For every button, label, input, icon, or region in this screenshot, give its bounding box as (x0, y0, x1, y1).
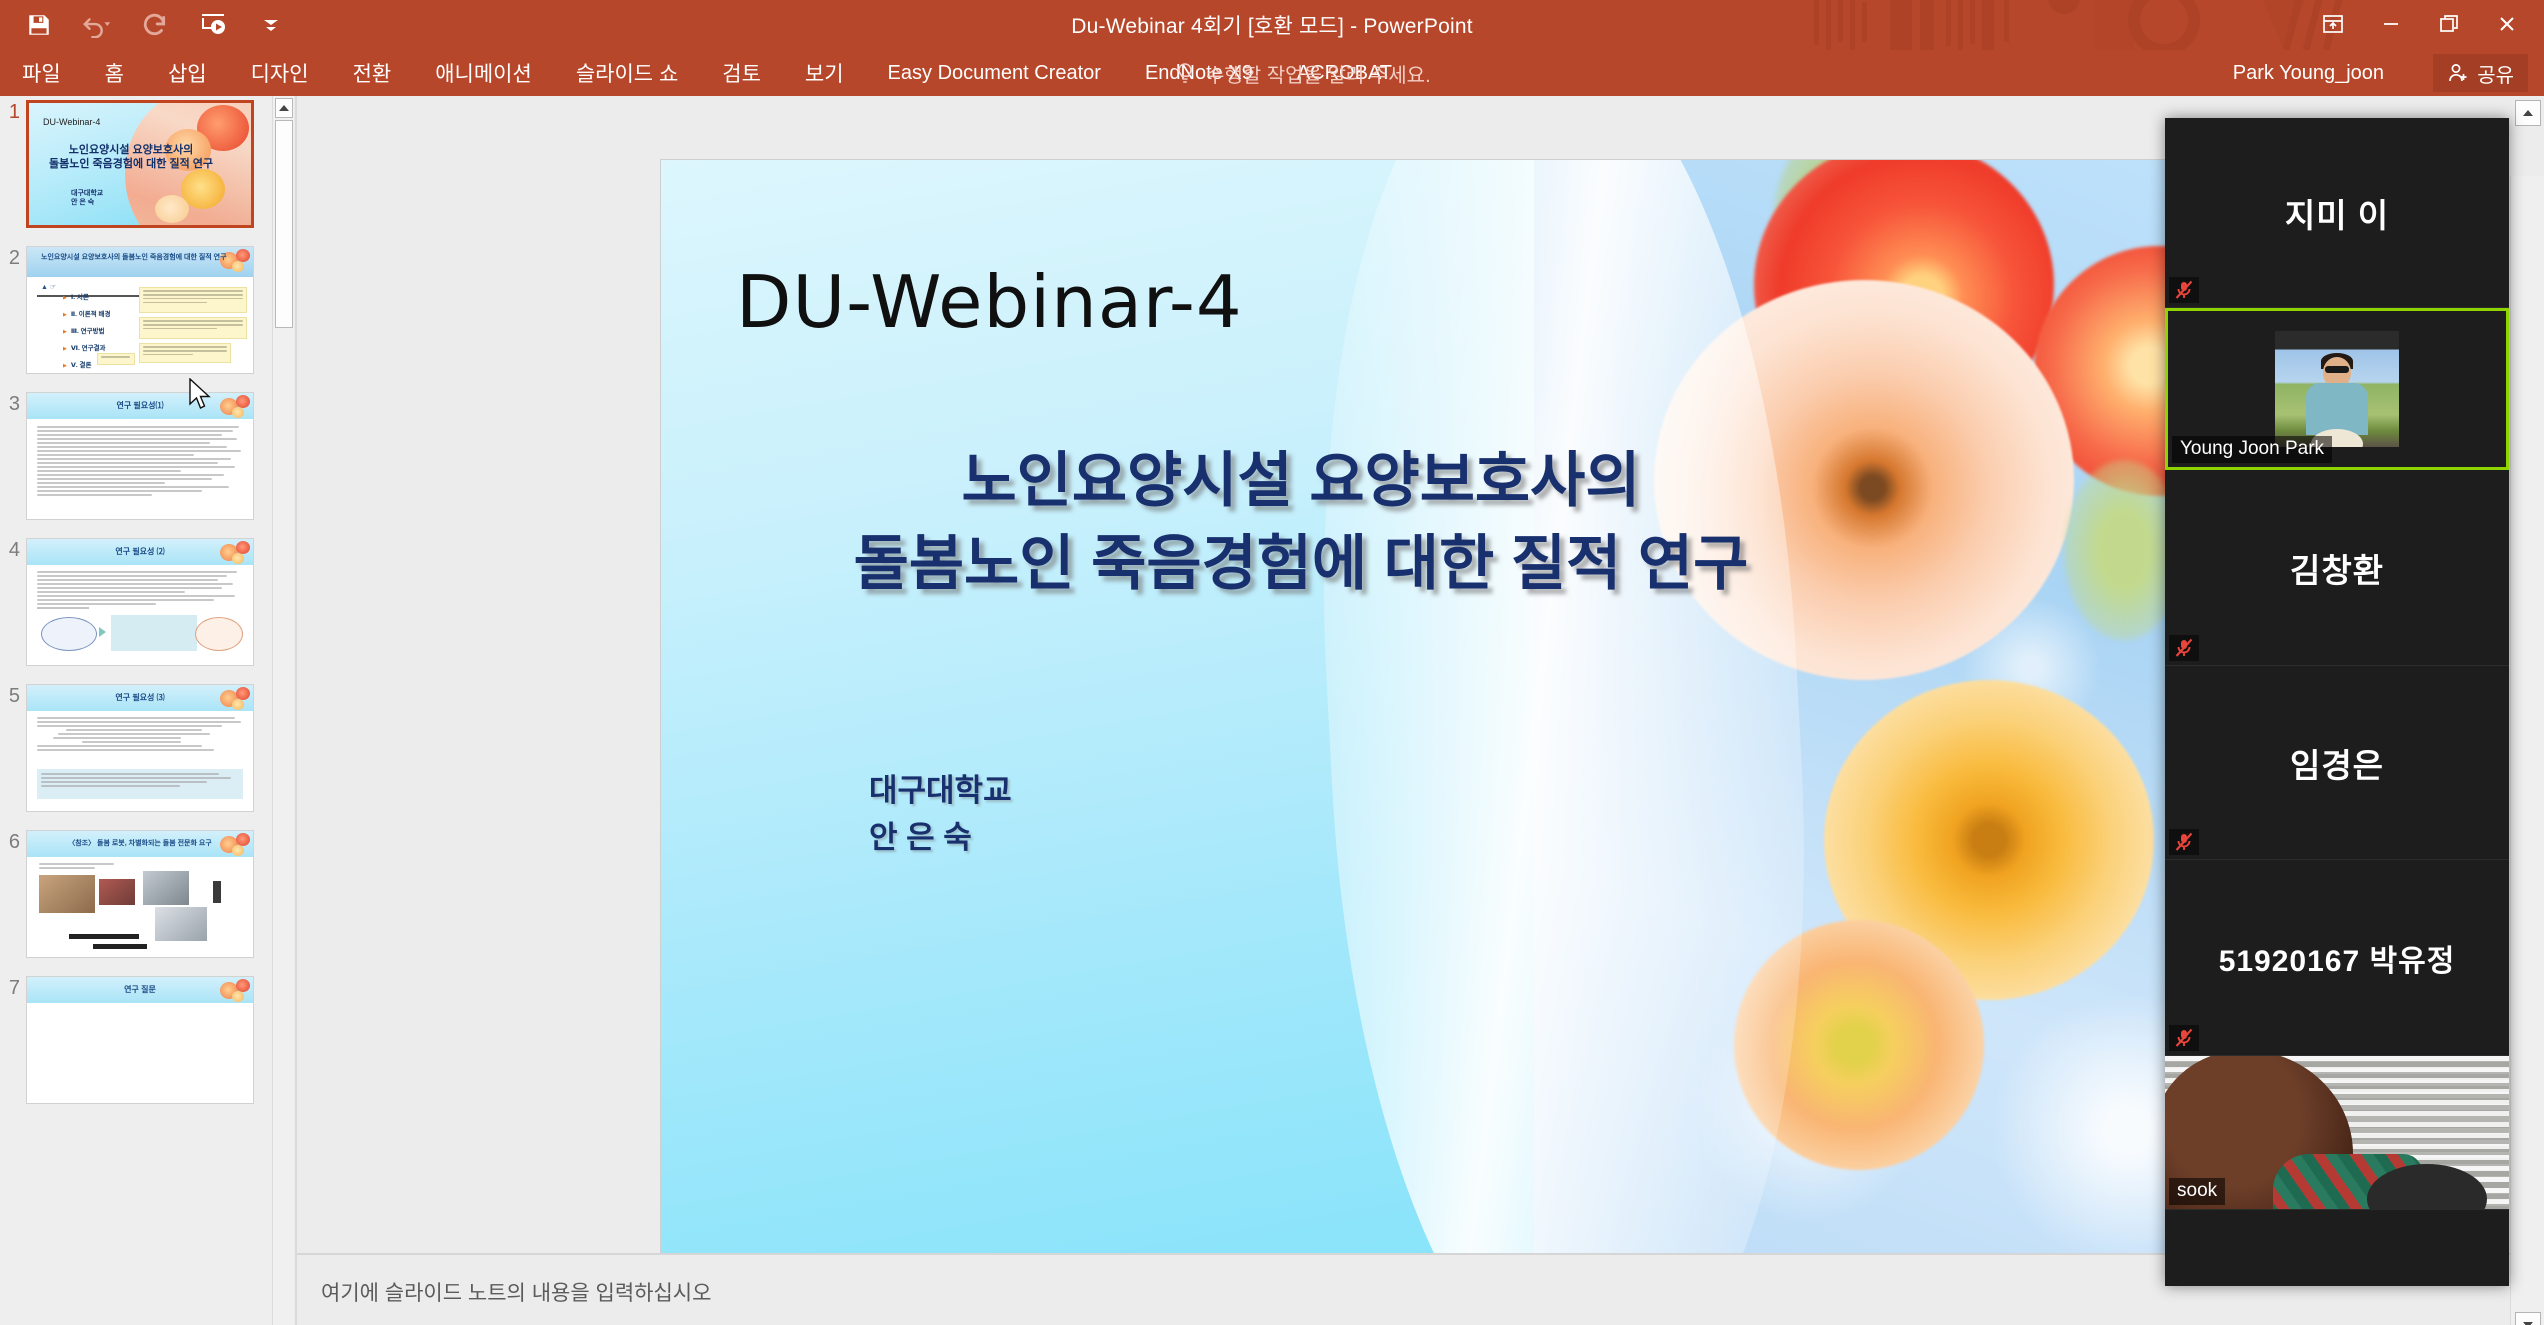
mini-affiliation: 대구대학교 안 은 숙 (71, 189, 103, 208)
mini-content-slide: 〈참조〉 돌봄 로봇, 차별화되는 돌봄 전문화 요구 (27, 831, 253, 957)
thumbnail-number: 4 (0, 538, 26, 560)
thumbnail-slide-3[interactable]: 3 연구 필요성⑴ (0, 392, 272, 520)
thumbnail-slide-5[interactable]: 5 연구 필요성 ⑶ (0, 684, 272, 812)
mini-content-slide: 연구 필요성⑴ (27, 393, 253, 519)
minimize-icon[interactable] (2362, 2, 2420, 46)
thumbnail-preview: 연구 필요성 ⑶ (26, 684, 254, 812)
workspace: 1 DU-Webinar-4 노인요양시설 요양보호사의 돌봄노인 죽음경험에 … (0, 96, 2544, 1325)
thumbnail-preview: 노인요양시설 요양보호사의 돌봄노인 죽음경험에 대한 질적 연구 ▲ ☞ Ⅰ.… (26, 246, 254, 374)
zoom-participant-tile[interactable]: 지미 이 (2165, 118, 2509, 308)
ribbon-tab-bar: 파일 홈 삽입 디자인 전환 애니메이션 슬라이드 쇼 검토 보기 Easy D… (0, 50, 2544, 96)
mic-muted-icon (2169, 277, 2199, 303)
thumbnail-preview: 연구 질문 (26, 976, 254, 1104)
tab-animations[interactable]: 애니메이션 (413, 50, 554, 96)
share-button[interactable]: 공유 (2433, 54, 2528, 92)
thumbnail-number: 2 (0, 246, 26, 268)
mini-slide-title: 연구 필요성 ⑶ (27, 692, 253, 703)
mini-photo (39, 875, 95, 913)
mini-note-block (139, 343, 231, 363)
mini-body-lines (37, 426, 243, 498)
mini-toc-item: Ⅱ. 이론적 배경 (63, 308, 110, 318)
mini-toc-item: Ⅵ. 연구결과 (63, 342, 110, 352)
mic-muted-icon (2169, 829, 2199, 855)
thumbnail-slide-1[interactable]: 1 DU-Webinar-4 노인요양시설 요양보호사의 돌봄노인 죽음경험에 … (0, 100, 272, 228)
mini-blossom-icon (155, 195, 189, 223)
zoom-participant-tile-active[interactable]: Young Joon Park (2165, 308, 2509, 470)
participant-name: 임경은 (2290, 739, 2384, 787)
mini-body-lines (37, 571, 243, 607)
account-name[interactable]: Park Young_joon (2233, 50, 2384, 96)
lightbulb-icon (1175, 62, 1195, 84)
window-controls (2304, 0, 2536, 48)
mini-photo (143, 871, 189, 905)
mini-content-slide: 연구 필요성 ⑶ (27, 685, 253, 811)
mini-note-block (139, 317, 247, 339)
share-label: 공유 (2477, 59, 2514, 88)
mini-english-title: DU-Webinar-4 (43, 117, 100, 127)
zoom-participant-panel[interactable]: 지미 이 Young Joon Park 김창환 (2165, 118, 2509, 1286)
mini-diagram-box (111, 615, 197, 651)
tell-me-search[interactable]: 수행할 작업을 알려 주세요. (1175, 50, 1431, 96)
mouse-cursor-icon (188, 378, 214, 412)
mini-title-slide: DU-Webinar-4 노인요양시설 요양보호사의 돌봄노인 죽음경험에 대한… (29, 103, 251, 225)
scroll-up-button[interactable] (2515, 100, 2541, 126)
mini-photo (213, 881, 221, 903)
window-title: Du-Webinar 4회기 [호환 모드] - PowerPoint (0, 0, 2544, 50)
slide-area-scrollbar[interactable] (2510, 176, 2544, 1325)
thumbnail-preview: DU-Webinar-4 노인요양시설 요양보호사의 돌봄노인 죽음경험에 대한… (26, 100, 254, 228)
scroll-down-button[interactable] (2515, 1312, 2541, 1325)
tab-home[interactable]: 홈 (83, 50, 146, 96)
mini-callout-box (37, 769, 243, 799)
mini-slide-title: 연구 필요성 ⑵ (27, 546, 253, 557)
mini-toc-item: Ⅲ. 연구방법 (63, 325, 110, 335)
notes-placeholder: 여기에 슬라이드 노트의 내용을 입력하십시오 (321, 1282, 711, 1305)
restore-icon[interactable] (2420, 2, 2478, 46)
zoom-participant-tile[interactable]: 51920167 박유정 (2165, 860, 2509, 1056)
close-icon[interactable] (2478, 2, 2536, 46)
mini-slide-title: 〈참조〉 돌봄 로봇, 차별화되는 돌봄 전문화 요구 (27, 838, 253, 848)
scrollbar-thumb[interactable] (275, 120, 293, 328)
mini-content-slide: 연구 질문 (27, 977, 253, 1103)
scroll-up-icon[interactable] (275, 98, 293, 118)
current-slide[interactable]: DU-Webinar-4 노인요양시설 요양보호사의 돌봄노인 죽음경험에 대한… (660, 159, 2225, 1264)
mini-diagram-oval (41, 617, 97, 651)
mini-slide-title: 연구 질문 (27, 984, 253, 995)
tell-me-text: 수행할 작업을 알려 주세요. (1206, 59, 1431, 88)
tab-insert[interactable]: 삽입 (146, 50, 229, 96)
thumbnail-number: 5 (0, 684, 26, 706)
mini-korean-title: 노인요양시설 요양보호사의 돌봄노인 죽음경험에 대한 질적 연구 (41, 143, 221, 172)
thumbnail-number: 7 (0, 976, 26, 998)
thumbnail-preview: 연구 필요성⑴ (26, 392, 254, 520)
mic-muted-icon (2169, 1025, 2199, 1051)
mini-note-block (97, 353, 135, 365)
title-bar: Du-Webinar 4회기 [호환 모드] - PowerPoint (0, 0, 2544, 50)
mini-toc-item: Ⅰ. 서론 (63, 291, 110, 301)
zoom-participant-tile-video[interactable]: sook (2165, 1056, 2509, 1210)
tab-easy-document-creator[interactable]: Easy Document Creator (866, 50, 1123, 96)
thumbnail-slide-7[interactable]: 7 연구 질문 (0, 976, 272, 1104)
mini-body-lines (37, 717, 243, 753)
slide-main-title[interactable]: 노인요양시설 요양보호사의 돌봄노인 죽음경험에 대한 질적 연구 (701, 440, 1901, 606)
mini-content-slide: 연구 필요성 ⑵ (27, 539, 253, 665)
person-add-icon (2447, 62, 2469, 84)
mini-diagram-oval (195, 617, 243, 651)
mini-body-lines (39, 863, 133, 871)
slide-affiliation[interactable]: 대구대학교 안 은 숙 (869, 768, 1012, 861)
tab-review[interactable]: 검토 (700, 50, 783, 96)
tab-slideshow[interactable]: 슬라이드 쇼 (554, 50, 700, 96)
thumbnail-preview: 〈참조〉 돌봄 로봇, 차별화되는 돌봄 전문화 요구 (26, 830, 254, 958)
mini-arrow-icon (99, 627, 106, 637)
thumbnail-number: 3 (0, 392, 26, 414)
participant-name: 지미 이 (2285, 189, 2389, 237)
tab-file[interactable]: 파일 (0, 50, 83, 96)
zoom-participant-tile[interactable]: 임경은 (2165, 666, 2509, 860)
tab-transitions[interactable]: 전환 (331, 50, 414, 96)
participant-name: 51920167 박유정 (2219, 936, 2456, 980)
participant-name: sook (2169, 1178, 2225, 1205)
mini-content-slide: 노인요양시설 요양보호사의 돌봄노인 죽음경험에 대한 질적 연구 ▲ ☞ Ⅰ.… (27, 247, 253, 373)
thumbnail-number: 6 (0, 830, 26, 852)
tab-view[interactable]: 보기 (783, 50, 866, 96)
mini-slide-title: 연구 필요성⑴ (27, 400, 253, 411)
powerpoint-window: Du-Webinar 4회기 [호환 모드] - PowerPoint (0, 0, 2544, 1325)
thumbnail-scrollbar[interactable] (272, 96, 294, 1325)
thumbnail-slide-6[interactable]: 6 〈참조〉 돌봄 로봇, 차별화되는 돌봄 전문화 요구 (0, 830, 272, 958)
participant-name: 김창환 (2290, 544, 2384, 592)
slide-english-title[interactable]: DU-Webinar-4 (736, 260, 1243, 344)
tab-design[interactable]: 디자인 (229, 50, 331, 96)
mini-photo (155, 907, 207, 941)
participant-name: Young Joon Park (2172, 436, 2332, 463)
mini-note-block (139, 287, 247, 313)
ribbon-display-options-icon[interactable] (2304, 2, 2362, 46)
zoom-participant-tile[interactable]: 김창환 (2165, 470, 2509, 666)
mini-photo (99, 879, 135, 905)
mic-muted-icon (2169, 635, 2199, 661)
slide-thumbnail-pane[interactable]: 1 DU-Webinar-4 노인요양시설 요양보호사의 돌봄노인 죽음경험에 … (0, 96, 272, 1325)
participant-avatar (2275, 331, 2399, 447)
mini-slide-title: 노인요양시설 요양보호사의 돌봄노인 죽음경험에 대한 질적 연구 (41, 252, 253, 262)
thumbnail-preview: 연구 필요성 ⑵ (26, 538, 254, 666)
thumbnail-slide-4[interactable]: 4 연구 필요성 ⑵ (0, 538, 272, 666)
thumbnail-number: 1 (0, 100, 26, 122)
thumbnail-slide-2[interactable]: 2 노인요양시설 요양보호사의 돌봄노인 죽음경험에 대한 질적 연구 ▲ ☞ … (0, 246, 272, 374)
